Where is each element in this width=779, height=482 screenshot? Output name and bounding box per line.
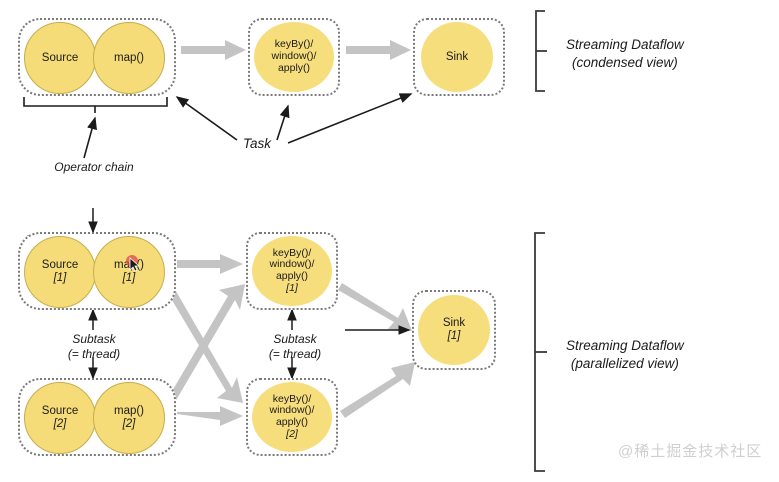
- task-annotation: Task: [228, 136, 286, 153]
- condensed-sink-label: Sink: [446, 51, 468, 64]
- parallel-view-subtitle: (parallelized view): [566, 355, 684, 373]
- parallel-map-index-2: [2]: [123, 418, 136, 431]
- parallel-source-index-2: [2]: [54, 418, 67, 431]
- parallel-window-2-index: [2]: [286, 429, 298, 441]
- parallel-window-1-index: [1]: [286, 283, 298, 295]
- parallel-window-circle-2[interactable]: keyBy()/ window()/ apply() [2]: [252, 382, 332, 452]
- diagram-canvas: Source map() keyBy()/ window()/ apply() …: [0, 0, 779, 482]
- task-pointer-to-chain: [177, 97, 237, 140]
- subtask-left-line-2: (= thread): [45, 347, 143, 362]
- flow-arrow-window-to-sink: [346, 40, 411, 60]
- condensed-window-line-3: apply(): [278, 63, 310, 75]
- flow-arrow-window1-to-sink: [338, 283, 412, 331]
- parallel-source-index-1: [1]: [54, 272, 67, 285]
- parallel-view-title: Streaming Dataflow: [566, 337, 684, 355]
- subtask-annotation-right: Subtask (= thread): [246, 332, 344, 362]
- condensed-source-label: Source: [42, 52, 78, 65]
- flow-arrow-chain1-to-window1: [177, 254, 243, 274]
- condensed-view-brace: [536, 11, 547, 91]
- parallel-window-2-line-3: apply(): [276, 417, 308, 429]
- parallel-sink-circle[interactable]: Sink [1]: [418, 295, 490, 365]
- parallel-map-index-1: [1]: [123, 272, 136, 285]
- parallel-sink-label: Sink: [443, 317, 465, 330]
- parallel-view-brace-label: Streaming Dataflow (parallelized view): [566, 337, 684, 372]
- operator-chain-annotation: Operator chain: [18, 160, 170, 175]
- parallel-map-circle-2[interactable]: map() [2]: [93, 382, 165, 454]
- condensed-map-circle[interactable]: map(): [93, 22, 165, 94]
- site-watermark: @稀土掘金技术社区: [618, 440, 762, 461]
- condensed-view-subtitle: (condensed view): [566, 54, 684, 72]
- parallel-source-label-2: Source: [42, 405, 78, 418]
- flow-arrow-chain2-to-window2: [177, 406, 243, 426]
- flow-arrow-chain-to-window: [181, 40, 246, 60]
- parallel-view-brace: [535, 233, 547, 471]
- parallel-source-circle-1[interactable]: Source [1]: [24, 236, 96, 308]
- condensed-map-label: map(): [114, 52, 144, 65]
- operator-chain-brace: [24, 97, 167, 113]
- mouse-cursor: [124, 253, 142, 273]
- parallel-source-circle-2[interactable]: Source [2]: [24, 382, 96, 454]
- subtask-right-line-2: (= thread): [246, 347, 344, 362]
- subtask-right-line-1: Subtask: [246, 332, 344, 347]
- parallel-sink-index: [1]: [448, 330, 461, 343]
- flow-arrow-window2-to-sink: [340, 362, 415, 418]
- condensed-view-title: Streaming Dataflow: [566, 36, 684, 54]
- condensed-source-circle[interactable]: Source: [24, 22, 96, 94]
- task-pointer-to-sink: [288, 94, 411, 143]
- parallel-map-label-2: map(): [114, 405, 144, 418]
- parallel-source-label-1: Source: [42, 259, 78, 272]
- parallel-window-1-line-3: apply(): [276, 271, 308, 283]
- condensed-view-brace-label: Streaming Dataflow (condensed view): [566, 36, 684, 71]
- parallel-window-circle-1[interactable]: keyBy()/ window()/ apply() [1]: [252, 236, 332, 306]
- condensed-window-circle[interactable]: keyBy()/ window()/ apply(): [254, 22, 334, 92]
- subtask-left-line-1: Subtask: [45, 332, 143, 347]
- task-pointer-to-window: [277, 106, 288, 140]
- condensed-sink-circle[interactable]: Sink: [421, 22, 493, 92]
- subtask-annotation-left: Subtask (= thread): [45, 332, 143, 362]
- operator-chain-pointer: [84, 118, 95, 158]
